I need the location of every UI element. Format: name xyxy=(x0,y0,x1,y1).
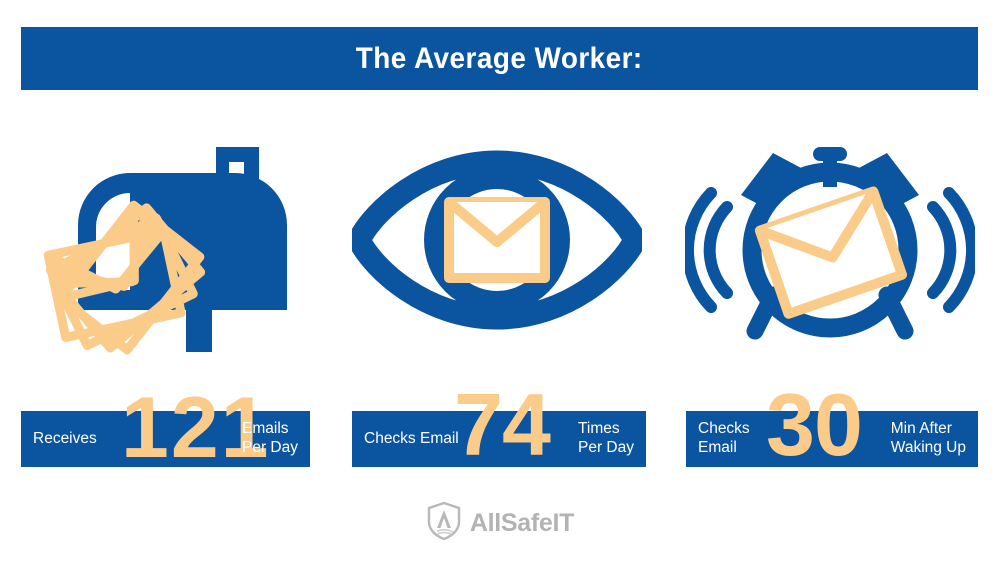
infographic-canvas: The Average Worker: xyxy=(0,0,1000,563)
stat-label-left: Checks Email xyxy=(686,420,750,458)
mailbox-with-envelopes-icon xyxy=(15,120,315,360)
stat-bar-checks-email-waking: Checks Email Min After Waking Up 30 xyxy=(686,411,978,467)
title-banner: The Average Worker: xyxy=(21,27,978,90)
brand-logo: AllSafeIT xyxy=(0,500,1000,546)
stat-label-right: Emails Per Day xyxy=(242,420,310,458)
logo-text: AllSafeIT xyxy=(470,509,574,538)
stat-label-left: Checks Email xyxy=(352,430,459,449)
stat-column-1 xyxy=(15,120,315,360)
eye-with-envelope-icon xyxy=(347,120,647,360)
stat-label-right: Min After Waking Up xyxy=(891,420,978,458)
stat-bar-receives-emails: Receives Emails Per Day 121 xyxy=(21,411,310,467)
shield-logo-icon xyxy=(426,501,462,546)
stat-label-left: Receives xyxy=(21,430,97,449)
alarm-clock-with-envelope-icon xyxy=(680,120,980,360)
stat-label-right: Times Per Day xyxy=(578,420,646,458)
stat-column-2 xyxy=(347,120,647,360)
page-title: The Average Worker: xyxy=(356,42,643,76)
stat-bar-checks-email-times: Checks Email Times Per Day 74 xyxy=(352,411,646,467)
stat-column-3 xyxy=(680,120,980,360)
